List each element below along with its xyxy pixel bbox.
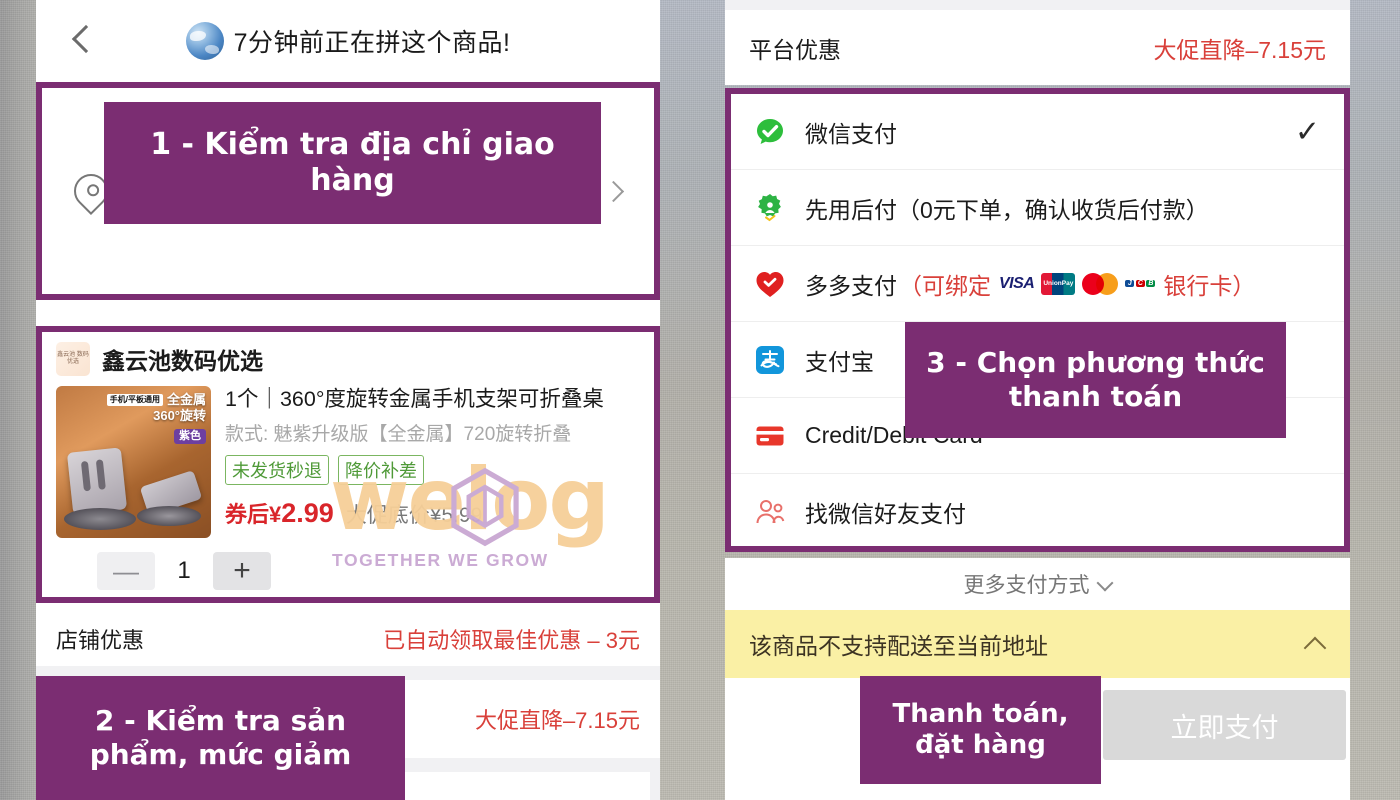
thumb-badge-color: 紫色: [174, 429, 206, 445]
card-brand-logos: VISA UnionPay JCB: [999, 273, 1155, 295]
price-value: 2.99: [281, 498, 334, 528]
chevron-up-icon[interactable]: [1304, 633, 1326, 655]
chevron-right-icon[interactable]: [604, 181, 624, 201]
nav-bar: 7分钟前正在拼这个商品!: [36, 0, 660, 82]
duoduo-pay-heart-icon: [753, 267, 787, 301]
payment-label-pay-later: 先用后付（0元下单，确认收货后付款）: [805, 191, 1209, 225]
annotation-callout-2: 2 - Kiểm tra sản phẩm, mức giảm: [36, 676, 405, 800]
price-compare: 大促底价¥5.99: [346, 499, 483, 529]
payment-label-friends: 找微信好友支付: [805, 495, 966, 529]
more-payment-methods-button[interactable]: 更多支付方式: [725, 558, 1350, 610]
chevron-down-icon: [1098, 577, 1112, 591]
quantity-value: 1: [155, 557, 213, 585]
duoduo-name: 多多支付: [805, 267, 897, 301]
product-price: 券后¥2.99: [225, 497, 334, 529]
store-discount-value: 已自动领取最佳优惠 – 3元: [383, 623, 640, 655]
globe-icon: [186, 22, 224, 60]
right-top-strip: [725, 0, 1350, 10]
shipping-warning-text: 该商品不支持配送至当前地址: [749, 627, 1048, 661]
payment-label-alipay: 支付宝: [805, 343, 874, 377]
payment-option-wechat[interactable]: 微信支付 ✓: [731, 94, 1344, 170]
payment-option-duoduo[interactable]: 多多支付 （可绑定 VISA UnionPay JCB 银行卡）: [731, 246, 1344, 322]
credit-card-icon: [753, 419, 787, 453]
product-thumbnail[interactable]: 手机/平板通用 全金属 360°旋转 紫色: [56, 386, 211, 538]
store-discount-row[interactable]: 店铺优惠 已自动领取最佳优惠 – 3元: [36, 612, 660, 666]
platform-discount-value: 大促直降–7.15元: [1153, 31, 1326, 65]
more-payment-label: 更多支付方式: [964, 569, 1090, 599]
payment-option-pay-later[interactable]: 先用后付（0元下单，确认收货后付款）: [731, 170, 1344, 246]
store-header[interactable]: 鑫云池 数码优选 鑫云池数码优选: [42, 332, 654, 380]
store-discount-label: 店铺优惠: [56, 623, 144, 655]
shipping-warning-banner[interactable]: 该商品不支持配送至当前地址: [725, 610, 1350, 678]
platform-discount-value-left: 大促直降–7.15元: [475, 703, 640, 735]
wechat-pay-icon: [753, 115, 787, 149]
annotation-callout-1: 1 - Kiểm tra địa chỉ giao hàng: [104, 102, 601, 224]
price-label: 券后¥: [225, 502, 281, 527]
tag-refund: 未发货秒退: [225, 455, 329, 485]
quantity-stepper: — 1 +: [42, 552, 654, 590]
store-logo: 鑫云池 数码优选: [56, 342, 90, 376]
unionpay-icon: UnionPay: [1041, 273, 1075, 295]
payment-methods-section: 微信支付 ✓ 先用后付（0元下单，确认收货后付款）: [725, 88, 1350, 552]
payment-label-duoduo: 多多支付 （可绑定 VISA UnionPay JCB 银行卡）: [805, 267, 1255, 301]
quantity-increase-button[interactable]: +: [213, 552, 271, 590]
platform-discount-row[interactable]: 平台优惠 大促直降–7.15元: [725, 10, 1350, 85]
chevron-left-icon[interactable]: [66, 24, 100, 58]
duoduo-suffix-close: 银行卡）: [1163, 267, 1255, 301]
store-name: 鑫云池数码优选: [102, 342, 263, 376]
mastercard-icon: [1082, 273, 1118, 295]
annotation-callout-3: 3 - Chọn phương thức thanh toán: [905, 322, 1286, 438]
price-row: 券后¥2.99 大促底价¥5.99: [225, 497, 640, 529]
thumb-badge-metal: 全金属: [167, 392, 206, 408]
tag-price-protect: 降价补差: [338, 455, 424, 485]
thumb-badge-rotate: 360°旋转: [107, 408, 206, 424]
page-title: 7分钟前正在拼这个商品!: [234, 23, 511, 59]
annotation-callout-4: Thanh toán, đặt hàng: [860, 676, 1101, 784]
visa-icon: VISA: [999, 273, 1034, 295]
payment-label-wechat: 微信支付: [805, 115, 897, 149]
product-title: 1个｜360°度旋转金属手机支架可折叠桌: [225, 386, 640, 412]
pay-later-icon: [753, 191, 787, 225]
duoduo-suffix-open: （可绑定: [899, 267, 991, 301]
thumb-badge-universal: 手机/平板通用: [107, 394, 163, 406]
payment-option-friends[interactable]: 找微信好友支付: [731, 474, 1344, 546]
quantity-decrease-button[interactable]: —: [97, 552, 155, 590]
payment-selected-check-icon: ✓: [1295, 114, 1320, 149]
platform-discount-label: 平台优惠: [749, 31, 841, 65]
product-row: 手机/平板通用 全金属 360°旋转 紫色 1个｜360°度旋转金属手机支架可折…: [42, 380, 654, 538]
alipay-icon: [753, 343, 787, 377]
pay-now-button[interactable]: 立即支付: [1103, 690, 1346, 760]
friends-pay-icon: [753, 495, 787, 529]
product-section: 鑫云池 数码优选 鑫云池数码优选 手机/平板通用 全金属 360°旋转 紫色 1…: [36, 326, 660, 603]
product-spec[interactable]: 款式: 魅紫升级版【全金属】720旋转折叠: [225, 419, 640, 446]
jcb-icon: JCB: [1125, 273, 1155, 295]
product-tags: 未发货秒退 降价补差: [225, 455, 640, 485]
